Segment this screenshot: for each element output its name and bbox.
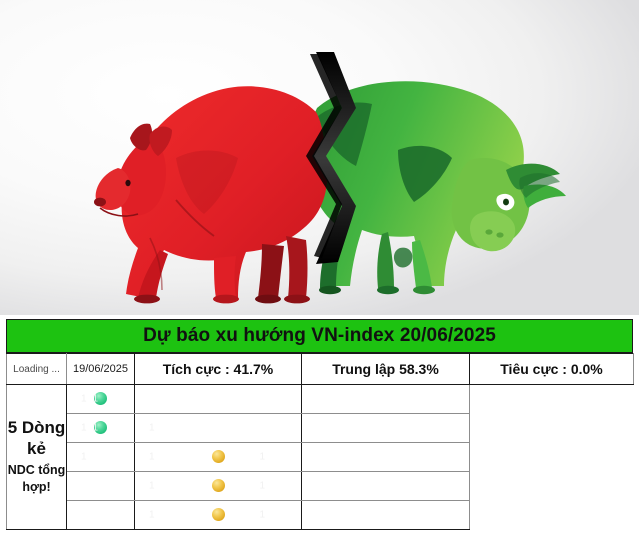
status-dot-neutral [212,450,225,463]
table-row: 5 Dòng kẻ NDC tổng hợp! 1 1 [7,385,634,414]
table-header-row: Loading ... 19/06/2025 Tích cực : 41.7% … [7,354,634,385]
forecast-panel: Dự báo xu hướng VN-index 20/06/2025 Load… [0,315,639,536]
watermark-mark: 1 [81,394,87,405]
bull-and-bear-illustration [0,0,639,315]
forecast-table: Loading ... 19/06/2025 Tích cực : 41.7% … [6,353,634,530]
cell-positive-1: 1 1 [67,385,135,414]
status-dot-neutral [212,508,225,521]
cell-negative-2 [302,414,470,443]
cell-neutral-1 [135,385,302,414]
table-row: 1 1 [7,501,634,530]
cell-neutral-5: 1 1 [135,501,302,530]
report-date: 19/06/2025 [67,354,135,385]
page-title: Dự báo xu hướng VN-index 20/06/2025 [143,325,496,347]
cell-positive-4 [67,472,135,501]
table-row: 1 1 [7,472,634,501]
summary-label-main: 5 Dòng kẻ [7,418,66,459]
watermark-mark: 1 [149,423,155,434]
cell-positive-5 [67,501,135,530]
watermark-mark: 1 [92,394,98,405]
cell-negative-3 [302,443,470,472]
watermark-mark: 1 [259,452,265,463]
cell-neutral-2: 1 [135,414,302,443]
cell-negative-1 [302,385,470,414]
column-header-neutral: Trung lập 58.3% [302,354,470,385]
watermark-mark: 1 [81,423,87,434]
watermark-mark: 1 [259,481,265,492]
cell-positive-2: 1 1 [67,414,135,443]
status-dot-neutral [212,479,225,492]
hero-banner [0,0,639,315]
cell-negative-4 [302,472,470,501]
forecast-title-bar: Dự báo xu hướng VN-index 20/06/2025 [6,319,633,353]
watermark-mark: 1 [149,452,155,463]
cell-neutral-4: 1 1 [135,472,302,501]
watermark-mark: 1 [259,510,265,521]
cell-negative-5 [302,501,470,530]
loading-status: Loading ... [7,354,67,385]
summary-label-sub: NDC tổng hợp! [7,462,66,496]
watermark-mark: 1 [92,423,98,434]
cell-neutral-3: 1 1 [135,443,302,472]
column-header-negative: Tiêu cực : 0.0% [470,354,634,385]
column-header-positive: Tích cực : 41.7% [135,354,302,385]
table-row: 1 1 1 [7,414,634,443]
summary-label-cell: 5 Dòng kẻ NDC tổng hợp! [7,385,67,530]
watermark-mark: 1 [149,510,155,521]
table-row: 1 1 1 [7,443,634,472]
watermark-mark: 1 [149,481,155,492]
cell-positive-3: 1 [67,443,135,472]
watermark-mark: 1 [81,452,87,463]
vn-index-forecast-screen: Dự báo xu hướng VN-index 20/06/2025 Load… [0,0,639,536]
